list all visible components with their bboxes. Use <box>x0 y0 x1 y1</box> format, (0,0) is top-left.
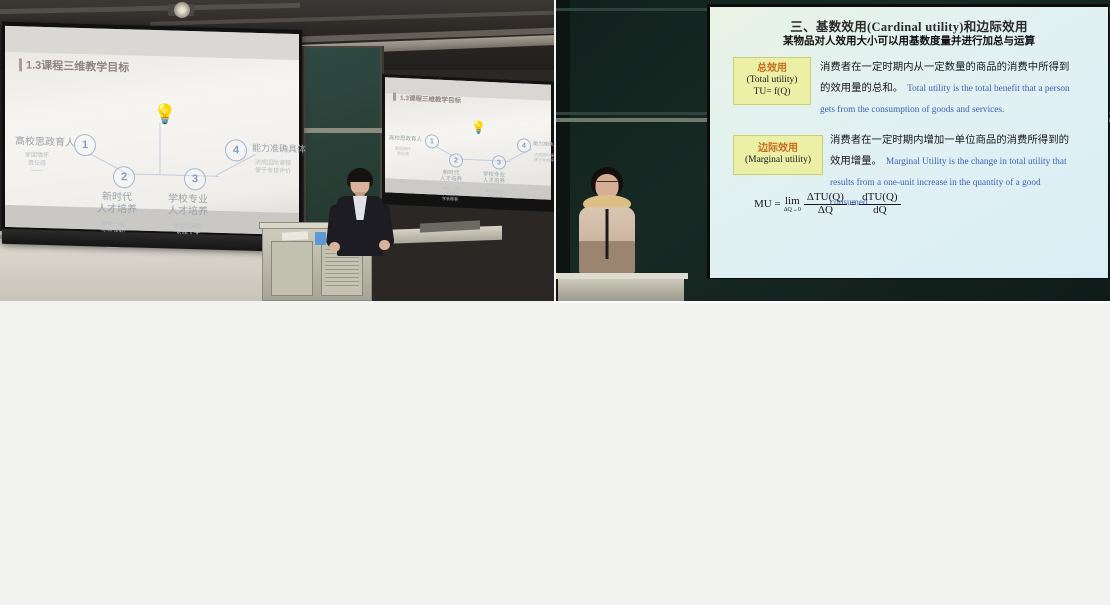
formula-lhs: MU = <box>754 198 781 210</box>
node-1-label: 高校思政育人 <box>15 136 75 149</box>
node-3-label: 学校专业人才培养 <box>168 193 208 217</box>
fringe <box>348 172 373 182</box>
hand-left <box>329 242 340 252</box>
lectern-top <box>556 273 688 279</box>
formula-frac2-num: dTU(Q) <box>859 192 900 205</box>
marginal-utility-box: 边际效用 (Marginal utility) <box>733 135 823 175</box>
connector-line <box>160 123 161 175</box>
formula-frac2-den: dQ <box>870 205 889 217</box>
paper-on-podium <box>282 231 308 240</box>
title-tick <box>19 58 22 71</box>
node-2: 2 <box>449 153 463 168</box>
total-utility-cn: 总效用 <box>757 63 787 76</box>
node-2: 2 <box>113 166 135 189</box>
node-1-sub: 家国情怀责任感—— <box>25 152 49 175</box>
total-utility-box: 总效用 (Total utility) TU= f(Q) <box>733 57 811 105</box>
lightbulb-icon: 💡 <box>471 120 486 135</box>
node-3: 3 <box>492 155 506 170</box>
slide-title-text: 1.3课程三维教学目标 <box>26 56 129 75</box>
blackboard-frame <box>556 0 570 301</box>
slide-subtitle: 某物品对人效用大小可以用基数度量并进行加总与运算 <box>710 33 1108 48</box>
formula-fraction-2: dTU(Q) dQ <box>859 192 900 216</box>
panel-top-left-classroom: 1.3课程三维教学目标 💡 1 2 3 4 高校思政育人 家国情怀责任感—— 新… <box>0 0 554 301</box>
node-4-label: 能力准确具体 <box>252 143 306 155</box>
lectern <box>558 277 684 301</box>
projection-screen: 三、基数效用(Cardinal utility)和边际效用 某物品对人效用大小可… <box>707 4 1109 279</box>
formula-lim-sub: ΔQ→0 <box>784 207 801 213</box>
formula-lim-text: lim <box>785 196 800 207</box>
node-2-label: 新时代人才培养 <box>97 191 137 215</box>
title-tick <box>393 93 396 101</box>
panel-top-right-economics: 三、基数效用(Cardinal utility)和边际效用 某物品对人效用大小可… <box>556 0 1110 301</box>
node-2-label: 新时代人才培养 <box>440 170 462 184</box>
marginal-utility-formula: MU = lim ΔQ→0 ΔTU(Q) ΔQ = dTU(Q) dQ <box>754 192 901 216</box>
formula-fraction-1: ΔTU(Q) ΔQ <box>804 192 847 216</box>
total-utility-description: 消费者在一定时期内从一定数量的商品的消费中所得到的效用量的总和。 Total u… <box>820 56 1075 118</box>
node-4: 4 <box>225 139 247 162</box>
projection-screen-large: 1.3课程三维教学目标 💡 1 2 3 4 高校思政育人 家国情怀责任感—— 新… <box>2 22 302 251</box>
microphone-stand <box>606 209 609 259</box>
spotlight-icon <box>174 2 190 18</box>
node-3: 3 <box>184 168 206 191</box>
node-2-sub: 两性一度学会求知学会做事 <box>442 186 458 202</box>
presenter-teacher-1 <box>330 168 390 263</box>
panel-divider-horizontal <box>0 303 1110 605</box>
node-1: 1 <box>425 134 439 149</box>
glasses-icon <box>597 181 618 187</box>
slide-title-text-small: 1.3课程三维教学目标 <box>400 92 461 105</box>
podium-door <box>271 241 313 296</box>
formula-frac1-num: ΔTU(Q) <box>804 192 847 205</box>
screen-surface-small: 1.3课程三维教学目标 💡 1 2 3 4 高校思政育人 家国情怀责任感 新时代… <box>385 77 551 200</box>
hand-right <box>379 240 390 250</box>
connector-line <box>134 173 219 176</box>
node-3-sub: 复合应用型系统人才 <box>485 188 505 199</box>
node-4-sub: 达成国际课程便于考核评价 <box>255 160 291 176</box>
node-1-label: 高校思政育人 <box>389 135 422 143</box>
lightbulb-icon: 💡 <box>153 102 177 127</box>
node-4-label: 能力准确具体 <box>533 142 554 149</box>
marginal-utility-en: (Marginal utility) <box>745 155 811 167</box>
photo-collage: 1.3课程三维教学目标 💡 1 2 3 4 高校思政育人 家国情怀责任感—— 新… <box>0 0 1110 605</box>
node-3-label: 学校专业人才培养 <box>483 172 505 186</box>
screen-surface: 1.3课程三维教学目标 💡 1 2 3 4 高校思政育人 家国情怀责任感—— 新… <box>5 26 299 235</box>
total-utility-formula: TU= f(Q) <box>754 87 791 99</box>
presenter-teacher-2 <box>572 167 642 287</box>
chalk-rail <box>304 128 382 133</box>
projection-screen-small: 1.3课程三维教学目标 💡 1 2 3 4 高校思政育人 家国情怀责任感 新时代… <box>382 74 554 212</box>
node-4: 4 <box>517 138 531 153</box>
slide-title: 1.3课程三维教学目标 <box>19 56 129 75</box>
formula-limit: lim ΔQ→0 <box>784 196 801 213</box>
cup-on-podium <box>315 232 326 245</box>
slide-title-small: 1.3课程三维教学目标 <box>393 92 461 105</box>
formula-frac1-den: ΔQ <box>815 205 836 217</box>
total-utility-en: (Total utility) <box>747 75 798 87</box>
node-1: 1 <box>74 134 96 157</box>
marginal-utility-cn: 边际效用 <box>758 143 798 156</box>
slide-cardinal-utility: 三、基数效用(Cardinal utility)和边际效用 某物品对人效用大小可… <box>710 7 1108 278</box>
node-1-sub: 家国情怀责任感 <box>395 146 411 157</box>
node-4-sub: 达成国际课程便于考核评价 <box>534 152 554 163</box>
slide-teaching-objectives-copy: 1.3课程三维教学目标 💡 1 2 3 4 高校思政育人 家国情怀责任感 新时代… <box>385 77 551 200</box>
slide-teaching-objectives: 1.3课程三维教学目标 💡 1 2 3 4 高校思政育人 家国情怀责任感—— 新… <box>5 26 299 235</box>
formula-equals: = <box>850 198 856 210</box>
